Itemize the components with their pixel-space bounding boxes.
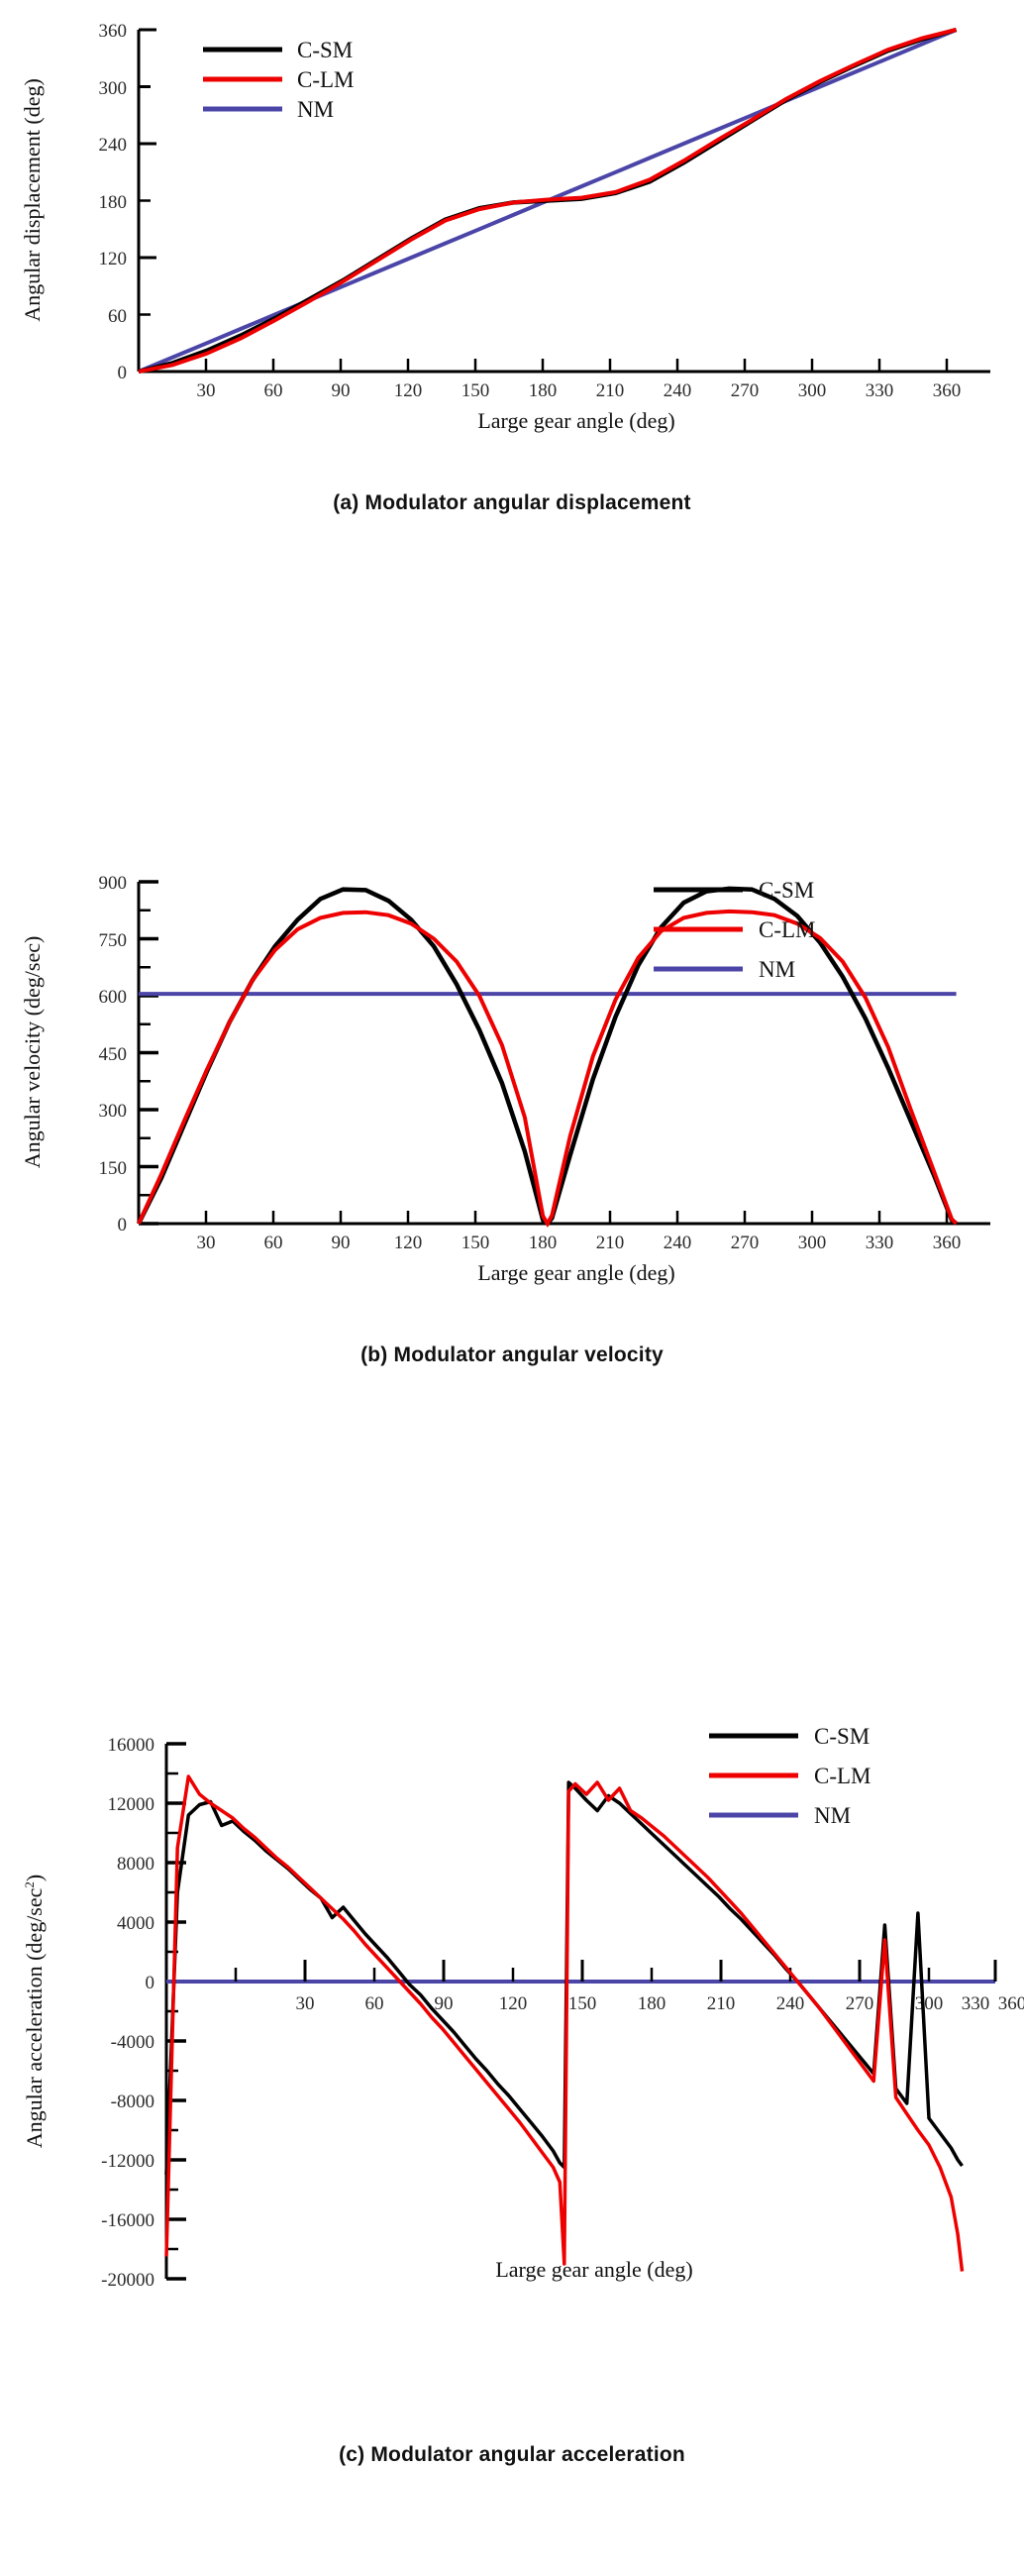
caption-a: (a) Modulator angular displacement [0, 491, 1024, 515]
y-tick-c-2: 8000 [117, 1854, 154, 1875]
y-tick-a-1: 300 [99, 78, 128, 99]
x-ticks-b [206, 1211, 947, 1224]
y-tick-c-1: 12000 [108, 1794, 155, 1815]
chart-a-svg: 360 300 240 180 120 60 0 [0, 0, 1024, 436]
legend-label-nm-a: NM [297, 97, 334, 122]
x-tick-b-6: 210 [596, 1233, 625, 1253]
y-tick-c-4: 0 [146, 1973, 155, 1993]
x-tick-a-4: 150 [461, 380, 490, 401]
legend-label-nm-c: NM [814, 1803, 851, 1828]
legend-label-clm-c: C-LM [814, 1764, 871, 1788]
x-tick-c-11: 360 [998, 1993, 1024, 2014]
x-tick-c-8: 270 [846, 1993, 874, 2014]
chart-c-plot: 16000 12000 8000 4000 0 -4000 -8000 -120… [22, 1724, 1024, 2291]
x-ticks-a [206, 359, 947, 372]
y-tick-c-5: -4000 [111, 2032, 154, 2053]
y-ticks-b [139, 882, 158, 1224]
panel-c: 16000 12000 8000 4000 0 -4000 -8000 -120… [0, 1714, 1024, 2467]
legend-label-csm-c: C-SM [814, 1724, 870, 1749]
x-axis-title-a: Large gear angle (deg) [477, 408, 674, 433]
y-tick-a-3: 180 [99, 192, 128, 213]
y-tick-b-0: 900 [99, 873, 128, 894]
y-axis-title-c-base: Angular acceleration (deg/sec [22, 1887, 47, 2148]
x-tick-c-4: 150 [568, 1993, 597, 2014]
y-tick-a-2: 240 [99, 135, 128, 156]
caption-c: (c) Modulator angular acceleration [0, 2443, 1024, 2467]
x-tick-a-6: 210 [596, 380, 625, 401]
y-tick-c-7: -12000 [101, 2151, 154, 2172]
x-tick-a-10: 330 [866, 380, 894, 401]
series-line-csm-b [139, 889, 957, 1224]
x-tick-c-0: 30 [296, 1993, 315, 2014]
y-tick-a-5: 60 [108, 306, 127, 327]
x-tick-a-2: 90 [332, 380, 351, 401]
legend-a: C-SM C-LM NM [203, 38, 355, 122]
x-tick-a-8: 270 [731, 380, 760, 401]
series-line-clm-b [139, 912, 957, 1224]
panel-a: 360 300 240 180 120 60 0 [0, 0, 1024, 515]
y-tick-b-5: 150 [99, 1158, 128, 1179]
x-tick-c-7: 240 [776, 1993, 805, 2014]
x-tick-b-1: 60 [264, 1233, 283, 1253]
y-tick-a-0: 360 [99, 21, 128, 42]
x-tick-a-5: 180 [529, 380, 558, 401]
x-tick-c-10: 330 [962, 1993, 990, 2014]
chart-b: 900 750 600 450 300 150 0 [0, 852, 1024, 1288]
x-tick-b-10: 330 [866, 1233, 894, 1253]
x-tick-b-2: 90 [332, 1233, 351, 1253]
y-axis-title-c: Angular acceleration (deg/sec2) [22, 1875, 47, 2148]
x-tick-c-9: 300 [915, 1993, 944, 2014]
y-tick-c-3: 4000 [117, 1913, 154, 1934]
x-tick-c-3: 120 [499, 1993, 528, 2014]
y-axis-title-a: Angular displacement (deg) [20, 78, 45, 322]
x-tick-b-3: 120 [394, 1233, 423, 1253]
legend-label-csm-b: C-SM [759, 878, 814, 903]
y-tick-c-8: -16000 [101, 2210, 154, 2231]
y-axis-title-b: Angular velocity (deg/sec) [20, 936, 45, 1169]
y-tick-b-6: 0 [118, 1215, 128, 1235]
x-tick-b-5: 180 [529, 1233, 558, 1253]
y-tick-b-2: 600 [99, 987, 128, 1008]
x-tick-a-1: 60 [264, 380, 283, 401]
y-tick-b-3: 450 [99, 1044, 128, 1065]
legend-label-clm-b: C-LM [759, 917, 816, 942]
y-tick-b-4: 300 [99, 1101, 128, 1122]
x-tick-b-0: 30 [197, 1233, 216, 1253]
x-tick-a-3: 120 [394, 380, 423, 401]
chart-b-plot: 900 750 600 450 300 150 0 [20, 873, 990, 1285]
panel-b: 900 750 600 450 300 150 0 [0, 852, 1024, 1367]
legend-label-clm-a: C-LM [297, 67, 355, 92]
figure-root: 360 300 240 180 120 60 0 [0, 0, 1024, 2576]
x-tick-b-4: 150 [461, 1233, 490, 1253]
y-tick-a-6: 0 [118, 363, 128, 383]
legend-label-nm-b: NM [759, 957, 795, 982]
chart-a-plot: 360 300 240 180 120 60 0 [20, 21, 990, 433]
x-axis-title-c: Large gear angle (deg) [495, 2257, 692, 2282]
chart-c: 16000 12000 8000 4000 0 -4000 -8000 -120… [0, 1714, 1024, 2398]
y-tick-c-6: -8000 [111, 2092, 154, 2112]
x-tick-c-6: 210 [707, 1993, 736, 2014]
chart-a: 360 300 240 180 120 60 0 [0, 0, 1024, 436]
x-tick-a-9: 300 [798, 380, 827, 401]
chart-c-svg: 16000 12000 8000 4000 0 -4000 -8000 -120… [0, 1714, 1024, 2398]
legend-c: C-SM C-LM NM [709, 1724, 871, 1828]
x-tick-a-7: 240 [664, 380, 692, 401]
x-tick-c-5: 180 [638, 1993, 666, 2014]
y-ticks-a [139, 30, 156, 372]
x-tick-b-7: 240 [664, 1233, 692, 1253]
y-tick-c-0: 16000 [108, 1735, 155, 1756]
y-axis-title-c-close: ) [22, 1875, 47, 1881]
x-tick-b-11: 360 [933, 1233, 962, 1253]
y-tick-c-9: -20000 [101, 2270, 154, 2291]
x-tick-a-11: 360 [933, 380, 962, 401]
x-tick-b-8: 270 [731, 1233, 760, 1253]
legend-b: C-SM C-LM NM [654, 878, 816, 982]
x-tick-c-1: 60 [365, 1993, 384, 2014]
y-tick-a-4: 120 [99, 249, 128, 269]
caption-b: (b) Modulator angular velocity [0, 1343, 1024, 1367]
y-tick-b-1: 750 [99, 930, 128, 951]
x-axis-title-b: Large gear angle (deg) [477, 1260, 674, 1285]
legend-label-csm-a: C-SM [297, 38, 353, 62]
chart-b-svg: 900 750 600 450 300 150 0 [0, 852, 1024, 1288]
x-tick-c-2: 90 [435, 1993, 454, 2014]
x-tick-a-0: 30 [197, 380, 216, 401]
x-tick-b-9: 300 [798, 1233, 827, 1253]
